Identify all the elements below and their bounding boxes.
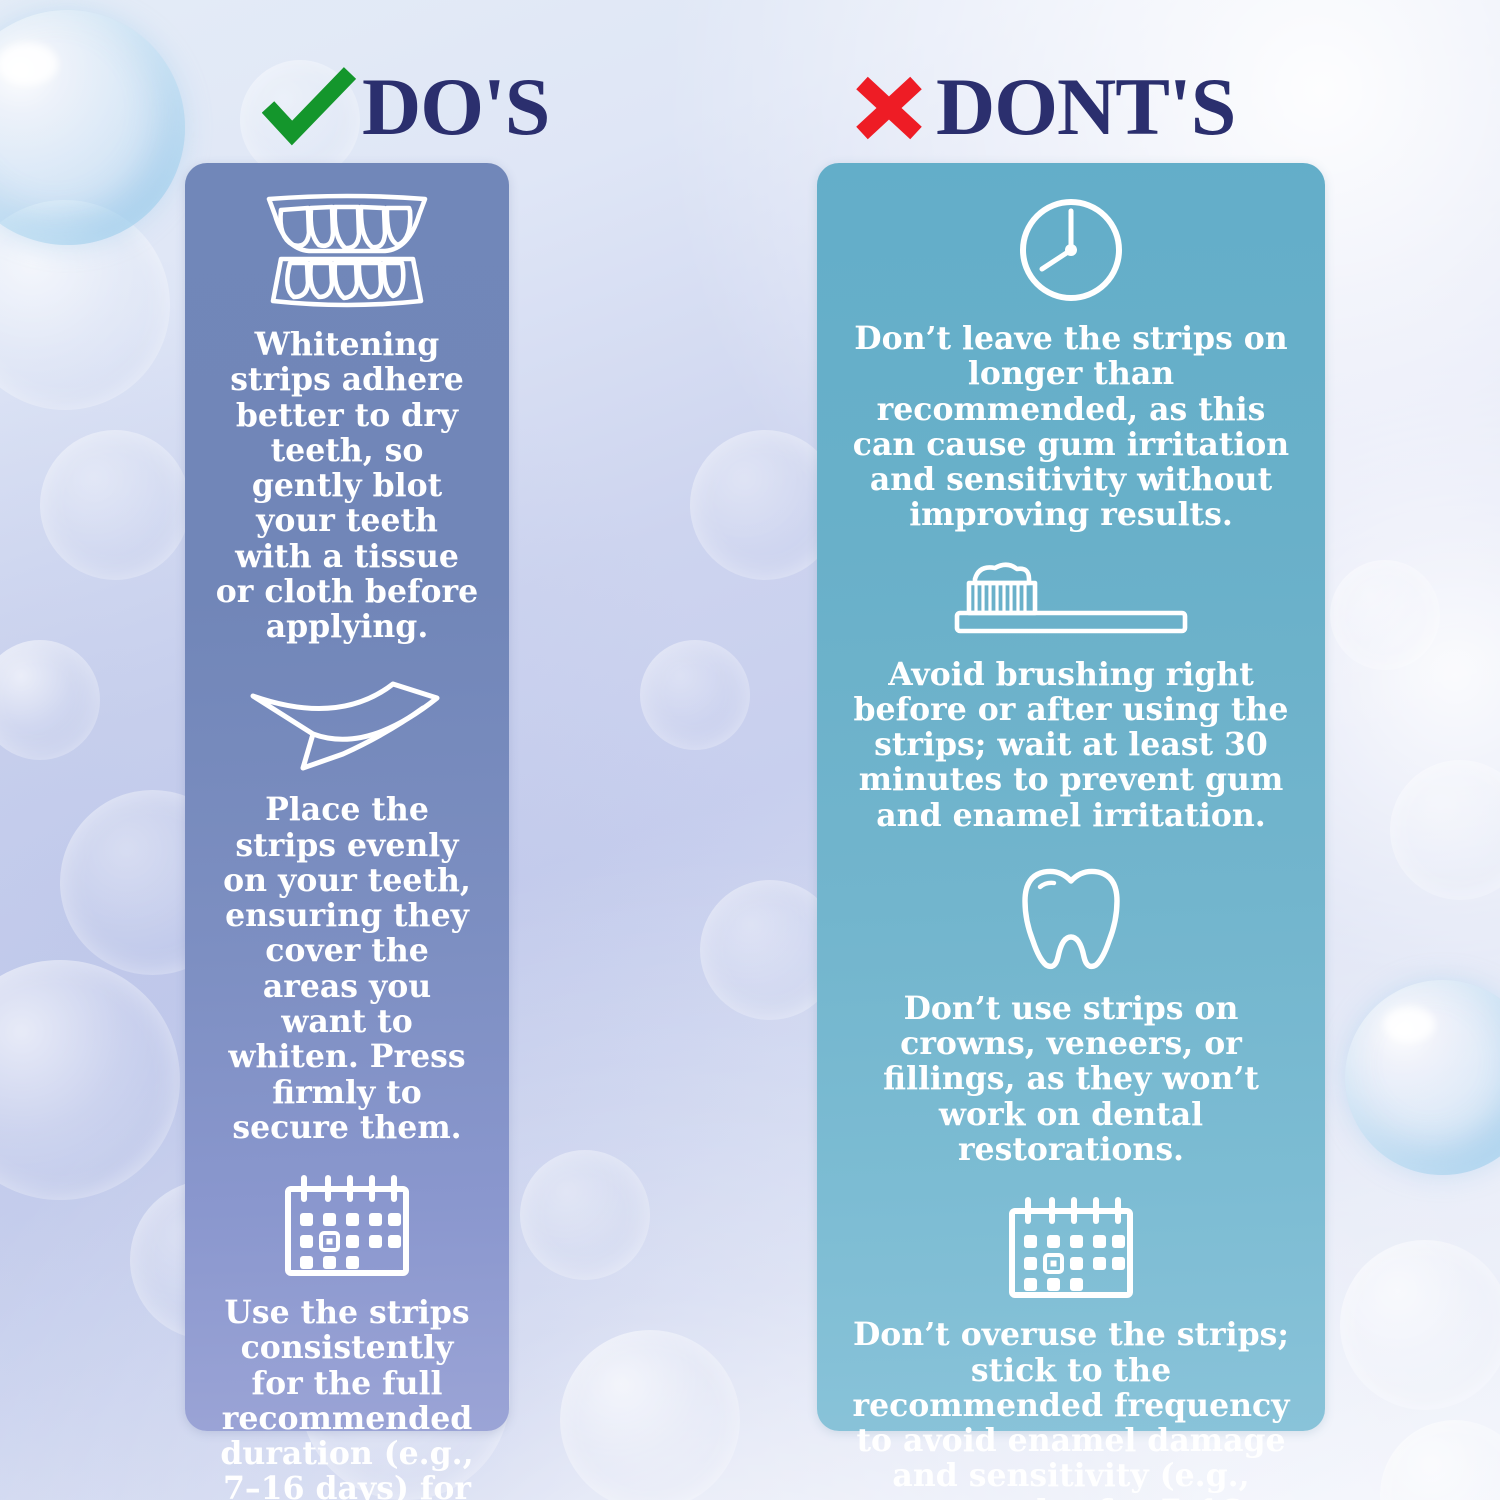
donts-item-1-text: Don’t leave the strips on longer than re… <box>847 321 1295 533</box>
calendar-icon <box>1004 1197 1138 1301</box>
toothbrush-icon <box>951 561 1191 641</box>
infographic-canvas: DO'S DONT'S <box>0 0 1500 1500</box>
dos-item-1-text: Whitening strips adhere better to dry te… <box>215 327 479 644</box>
donts-item-2-text: Avoid brushing right before or after usi… <box>847 657 1295 833</box>
red-cross-icon <box>848 67 932 147</box>
donts-item-1: Don’t leave the strips on longer than re… <box>847 189 1295 533</box>
donts-card: Don’t leave the strips on longer than re… <box>817 163 1325 1431</box>
calendar-selected-day <box>321 1233 338 1250</box>
dos-header: DO'S <box>262 66 549 148</box>
calendar-icon <box>280 1175 414 1279</box>
dos-title: DO'S <box>362 66 549 148</box>
dos-item-3: Use the strips consistently for the full… <box>215 1175 479 1500</box>
donts-item-3-text: Don’t use strips on crowns, veneers, or … <box>847 991 1295 1167</box>
dos-item-1: Whitening strips adhere better to dry te… <box>215 189 479 644</box>
dos-item-2-text: Place the strips evenly on your teeth, e… <box>215 792 479 1145</box>
whitening-strip-icon <box>247 672 447 776</box>
donts-item-4: Don’t overuse the strips; stick to the r… <box>847 1197 1295 1500</box>
donts-item-4-text: Don’t overuse the strips; stick to the r… <box>847 1317 1295 1500</box>
dos-card: Whitening strips adhere better to dry te… <box>185 163 509 1431</box>
green-check-icon <box>262 67 358 147</box>
tooth-icon <box>1016 863 1126 975</box>
donts-title: DONT'S <box>936 66 1235 148</box>
clock-icon <box>1014 193 1128 307</box>
donts-header: DONT'S <box>848 66 1235 148</box>
dos-item-2: Place the strips evenly on your teeth, e… <box>215 672 479 1145</box>
calendar-selected-day <box>1045 1255 1062 1272</box>
teeth-icon <box>259 193 435 313</box>
dos-item-3-text: Use the strips consistently for the full… <box>215 1295 479 1500</box>
donts-item-3: Don’t use strips on crowns, veneers, or … <box>847 863 1295 1167</box>
donts-item-2: Avoid brushing right before or after usi… <box>847 561 1295 833</box>
